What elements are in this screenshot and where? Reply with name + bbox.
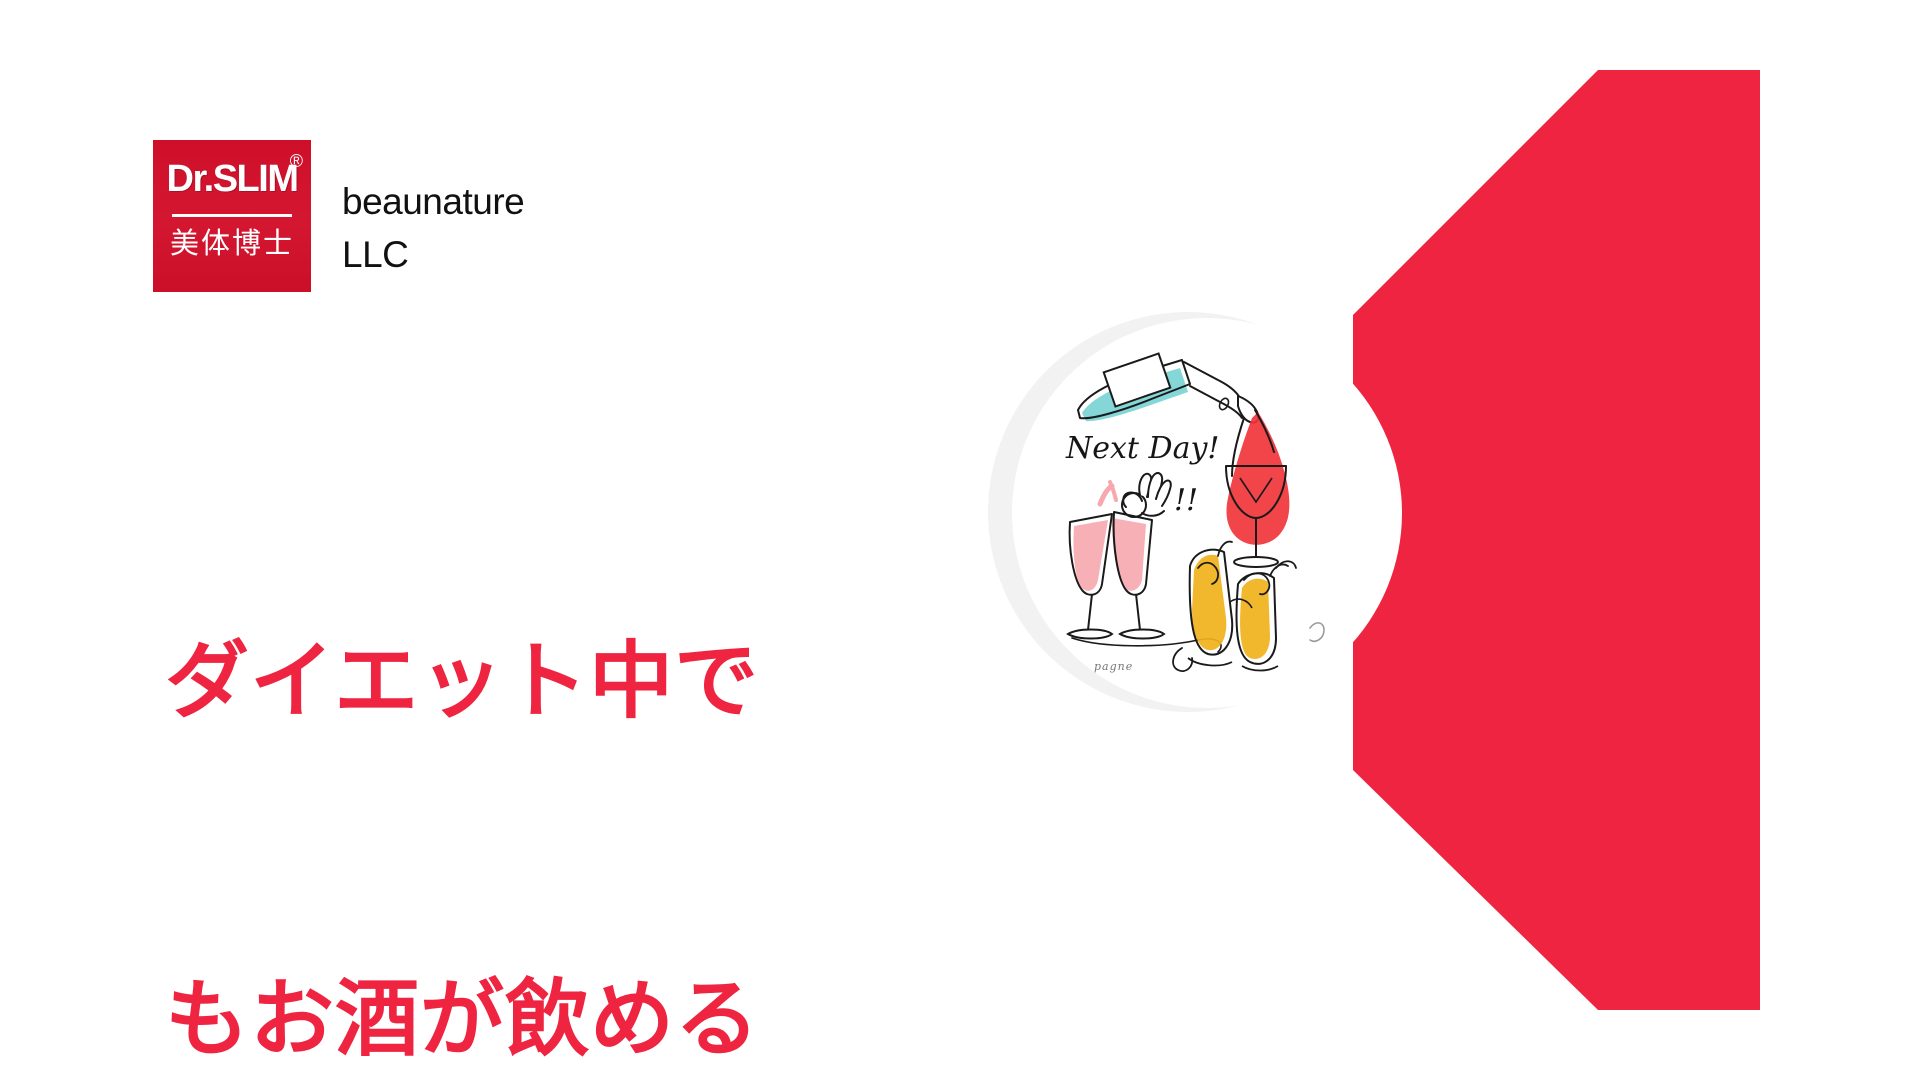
exclaim-caption: !! bbox=[1174, 483, 1198, 518]
red-accent-shape bbox=[1353, 70, 1760, 1010]
wine-bottle-pouring-icon bbox=[1078, 354, 1259, 423]
headline-line-1: ダイエット中で bbox=[165, 625, 760, 738]
logo-brand-text: Dr.SLIM bbox=[167, 160, 298, 198]
logo-mark: ® Dr.SLIM 美体博士 bbox=[153, 140, 311, 292]
script-caption: pagne bbox=[1094, 660, 1133, 673]
ok-hand-gesture-icon bbox=[1122, 473, 1171, 517]
beer-glasses-clink-icon bbox=[1173, 542, 1324, 671]
registered-trademark-icon: ® bbox=[290, 152, 303, 170]
illustration-disc: Next Day! !! pagne bbox=[1012, 318, 1402, 708]
company-name-line2: LLC bbox=[342, 229, 524, 282]
company-name-line1: beaunature bbox=[342, 176, 524, 229]
brand-logo: ® Dr.SLIM 美体博士 beaunature LLC bbox=[153, 140, 524, 292]
logo-japanese-text: 美体博士 bbox=[170, 229, 294, 258]
wine-glass-red-icon bbox=[1226, 410, 1289, 567]
company-name: beaunature LLC bbox=[342, 140, 524, 281]
logo-divider bbox=[172, 214, 292, 217]
page-title: ダイエット中で もお酒が飲める サプリとは？ bbox=[165, 400, 760, 1080]
next-day-caption: Next Day! bbox=[1065, 431, 1219, 466]
headline-line-2: もお酒が飲める bbox=[165, 963, 760, 1076]
